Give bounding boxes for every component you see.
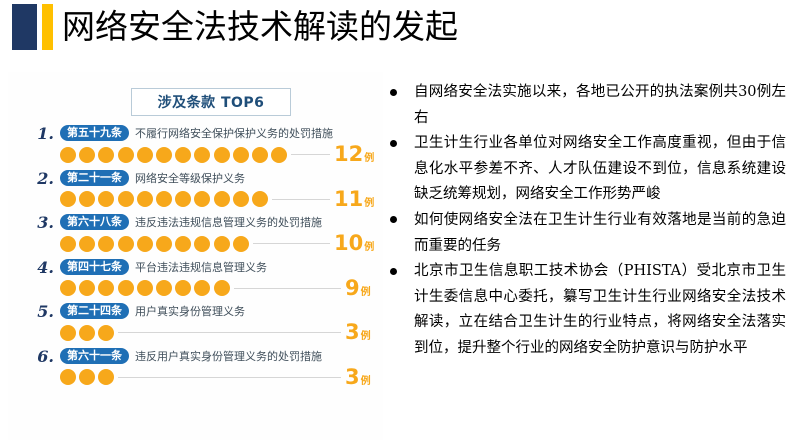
chart-row: 6.第六十一条违反用户真实身份管理义务的处罚措施3例	[8, 347, 383, 392]
chart-row: 5.第二十四条用户真实身份管理义务3例	[8, 302, 383, 347]
bullet-text: 北京市卫生信息职工技术协会（PHISTA）受北京市卫生计生委信息中心委托，纂写卫…	[414, 263, 786, 356]
dot-unit-icon	[175, 147, 191, 163]
rank-number: 1.	[30, 124, 54, 143]
connector-line	[272, 199, 330, 200]
clause-description: 违反用户真实身份管理义务的处罚措施	[135, 347, 322, 366]
chart-title: 涉及条款 TOP6	[158, 92, 265, 112]
dot-unit-icon	[79, 369, 95, 385]
chart-row-header: 5.第二十四条用户真实身份管理义务	[8, 302, 383, 321]
case-count-unit: 例	[361, 375, 371, 389]
bullet-dot-icon	[390, 268, 397, 275]
dot-unit-icon	[98, 280, 114, 296]
dot-unit-icon	[79, 191, 95, 207]
dot-unit-icon	[118, 280, 134, 296]
dot-unit-icon	[194, 191, 210, 207]
dot-unit-icon	[194, 147, 210, 163]
dot-unit-icon	[214, 191, 230, 207]
bullet-dot-icon	[390, 140, 397, 147]
case-count-number: 10	[334, 232, 363, 254]
case-count-unit: 例	[361, 330, 371, 344]
clause-description: 网络安全等级保护义务	[135, 169, 245, 188]
dot-unit-icon	[79, 280, 95, 296]
dot-unit-icon	[194, 280, 210, 296]
case-count-unit: 例	[361, 286, 371, 300]
dot-unit-icon	[156, 280, 172, 296]
dot-unit-icon	[137, 236, 153, 252]
chart-row-value: 9例	[8, 277, 383, 301]
clause-description: 用户真实身份管理义务	[135, 302, 245, 321]
rank-number: 2.	[30, 169, 54, 188]
dot-unit-icon	[137, 191, 153, 207]
dot-bar	[60, 145, 287, 164]
chart-row-header: 2.第二十一条网络安全等级保护义务	[8, 169, 383, 188]
dot-unit-icon	[60, 369, 76, 385]
chart-row-header: 6.第六十一条违反用户真实身份管理义务的处罚措施	[8, 347, 383, 366]
chart-row-value: 11例	[8, 188, 383, 212]
dot-unit-icon	[271, 147, 287, 163]
dot-unit-icon	[98, 191, 114, 207]
clause-badge: 第二十一条	[60, 170, 129, 186]
case-count-number: 3	[345, 366, 360, 388]
dot-unit-icon	[252, 147, 268, 163]
chart-row-header: 3.第六十八条违反违法违规信息管理义务的处罚措施	[8, 213, 383, 232]
clause-badge: 第二十四条	[60, 303, 129, 319]
case-count: 10例	[334, 232, 374, 254]
bullet-text: 如何使网络安全法在卫生计生行业有效落地是当前的急迫而重要的任务	[414, 212, 786, 254]
case-count-number: 12	[334, 143, 363, 165]
connector-line	[118, 332, 341, 333]
connector-line	[253, 243, 330, 244]
dot-unit-icon	[98, 147, 114, 163]
chart-row-value: 12例	[8, 143, 383, 167]
clause-ranking-infographic: 涉及条款 TOP6 1.第五十九条不履行网络安全保护保护义务的处罚措施12例2.…	[8, 72, 383, 440]
dot-unit-icon	[233, 191, 249, 207]
case-count: 3例	[345, 366, 371, 388]
bullet-dot-icon	[390, 89, 397, 96]
case-count-unit: 例	[364, 197, 374, 211]
chart-row: 3.第六十八条违反违法违规信息管理义务的处罚措施10例	[8, 213, 383, 258]
bullet-text: 自网络安全法实施以来，各地已公开的执法案例共30例左右	[414, 84, 786, 126]
dot-unit-icon	[156, 236, 172, 252]
case-count-number: 9	[345, 277, 360, 299]
rank-number: 4.	[30, 258, 54, 277]
dot-unit-icon	[118, 236, 134, 252]
clause-badge: 第四十七条	[60, 259, 129, 275]
chart-row: 1.第五十九条不履行网络安全保护保护义务的处罚措施12例	[8, 124, 383, 169]
chart-row: 4.第四十七条平台违法违规信息管理义务9例	[8, 258, 383, 303]
dot-unit-icon	[252, 191, 268, 207]
dot-unit-icon	[60, 280, 76, 296]
bullet-item: 如何使网络安全法在卫生计生行业有效落地是当前的急迫而重要的任务	[386, 208, 786, 259]
bullet-text: 卫生计生行业各单位对网络安全工作高度重视，但由于信息化水平参差不齐、人才队伍建设…	[414, 135, 786, 202]
dot-unit-icon	[214, 280, 230, 296]
rank-number: 3.	[30, 213, 54, 232]
dot-unit-icon	[60, 147, 76, 163]
rank-number: 6.	[30, 347, 54, 366]
dot-unit-icon	[118, 147, 134, 163]
clause-description: 平台违法违规信息管理义务	[135, 258, 267, 277]
bullet-item: 自网络安全法实施以来，各地已公开的执法案例共30例左右	[386, 80, 786, 131]
case-count-number: 3	[345, 321, 360, 343]
chart-title-box: 涉及条款 TOP6	[131, 88, 291, 116]
dot-unit-icon	[60, 325, 76, 341]
title-accent-gold-block	[42, 4, 53, 50]
clause-badge: 第五十九条	[60, 125, 129, 141]
chart-row-header: 1.第五十九条不履行网络安全保护保护义务的处罚措施	[8, 124, 383, 143]
dot-unit-icon	[79, 236, 95, 252]
chart-row-header: 4.第四十七条平台违法违规信息管理义务	[8, 258, 383, 277]
summary-bullet-list: 自网络安全法实施以来，各地已公开的执法案例共30例左右卫生计生行业各单位对网络安…	[386, 80, 786, 362]
dot-unit-icon	[79, 325, 95, 341]
connector-line	[234, 288, 341, 289]
dot-unit-icon	[194, 236, 210, 252]
dot-unit-icon	[214, 236, 230, 252]
dot-unit-icon	[98, 369, 114, 385]
dot-unit-icon	[233, 147, 249, 163]
clause-description: 不履行网络安全保护保护义务的处罚措施	[135, 124, 333, 143]
case-count-unit: 例	[364, 241, 374, 255]
dot-unit-icon	[60, 191, 76, 207]
dot-unit-icon	[175, 236, 191, 252]
chart-row-value: 3例	[8, 321, 383, 345]
page-title: 网络安全法技术解读的发起	[62, 2, 458, 52]
title-accent-navy-block	[12, 4, 37, 50]
dot-unit-icon	[118, 191, 134, 207]
dot-bar	[60, 190, 268, 209]
dot-unit-icon	[214, 147, 230, 163]
rank-number: 5.	[30, 302, 54, 321]
clause-description: 违反违法违规信息管理义务的处罚措施	[135, 213, 322, 232]
dot-unit-icon	[98, 236, 114, 252]
connector-line	[291, 154, 330, 155]
dot-unit-icon	[156, 147, 172, 163]
dot-unit-icon	[60, 236, 76, 252]
case-count: 9例	[345, 277, 371, 299]
chart-row: 2.第二十一条网络安全等级保护义务11例	[8, 169, 383, 214]
bullet-item: 北京市卫生信息职工技术协会（PHISTA）受北京市卫生计生委信息中心委托，纂写卫…	[386, 259, 786, 361]
dot-unit-icon	[156, 191, 172, 207]
dot-bar	[60, 234, 249, 253]
dot-bar	[60, 279, 230, 298]
case-count-unit: 例	[364, 152, 374, 166]
dot-unit-icon	[98, 325, 114, 341]
dot-unit-icon	[233, 236, 249, 252]
connector-line	[118, 377, 341, 378]
chart-row-value: 3例	[8, 366, 383, 390]
bullet-dot-icon	[390, 216, 397, 223]
clause-badge: 第六十八条	[60, 214, 129, 230]
dot-unit-icon	[79, 147, 95, 163]
case-count: 12例	[334, 143, 374, 165]
dot-unit-icon	[175, 280, 191, 296]
dot-unit-icon	[175, 191, 191, 207]
bullet-item: 卫生计生行业各单位对网络安全工作高度重视，但由于信息化水平参差不齐、人才队伍建设…	[386, 131, 786, 208]
dot-unit-icon	[137, 147, 153, 163]
chart-row-value: 10例	[8, 232, 383, 256]
chart-rows: 1.第五十九条不履行网络安全保护保护义务的处罚措施12例2.第二十一条网络安全等…	[8, 124, 383, 391]
case-count: 11例	[334, 188, 374, 210]
dot-bar	[60, 368, 114, 387]
case-count: 3例	[345, 321, 371, 343]
case-count-number: 11	[334, 188, 363, 210]
slide-title-bar: 网络安全法技术解读的发起	[0, 0, 793, 62]
dot-unit-icon	[137, 280, 153, 296]
clause-badge: 第六十一条	[60, 348, 129, 364]
dot-bar	[60, 323, 114, 342]
